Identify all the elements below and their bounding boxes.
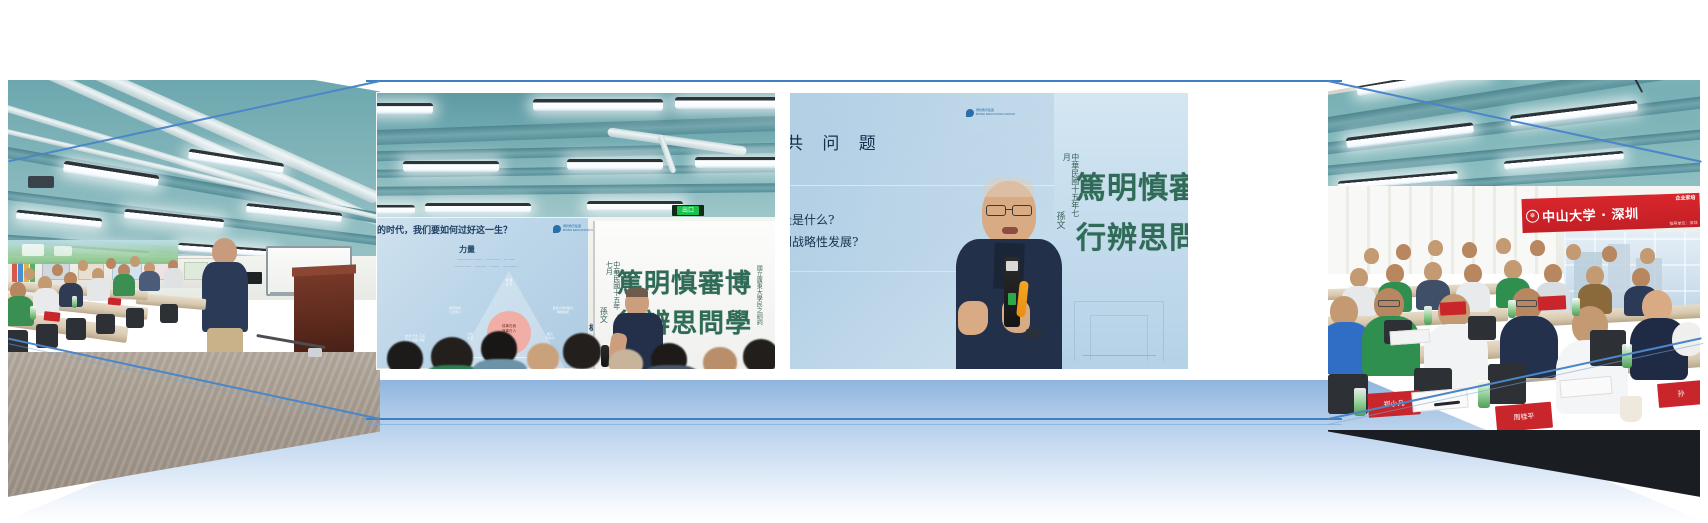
frame-line-top-center xyxy=(366,80,1342,82)
photo-center-left[interactable]: 出口 博智教育集团 BOZHI EDUCATION GROUP 的时代，我们要如… xyxy=(377,93,775,369)
water-bottle xyxy=(1424,306,1432,325)
ceiling-mask-center xyxy=(366,0,1342,80)
wall-calligraphy-side-left: 孫文 xyxy=(599,307,607,339)
photo-center-left-image: 出口 博智教育集团 BOZHI EDUCATION GROUP 的时代，我们要如… xyxy=(377,93,775,369)
slide-logo-line2: BOZHI EDUCATION GROUP xyxy=(976,113,1015,117)
frame-line-bottom-center xyxy=(366,418,1342,420)
nameplate: 孙 xyxy=(1657,380,1700,408)
nameplate: 周桂平 xyxy=(1495,402,1553,433)
glasses-icon xyxy=(986,205,1006,216)
wall-calligraphy-side-right: 中華民國十五年七月 xyxy=(605,261,620,311)
wall-calligraphy-side-right: 中華民國十五年七月 xyxy=(1062,153,1079,217)
wall-calligraphy-side-left: 孫文 xyxy=(1054,211,1063,245)
slide-line1: 量是什么? xyxy=(790,211,834,228)
wall-calligraphy-side-far: 國立廣東大學民之訓詞 xyxy=(755,265,761,333)
slide-line2: 到战略性发展? xyxy=(790,233,858,250)
slide-title: 共 问 题 xyxy=(790,129,883,154)
person-body xyxy=(202,262,248,332)
brand-logo-icon xyxy=(966,109,974,117)
event-banner: ✵ 中山大学 · 深圳 企业家培 指导单位：深圳 xyxy=(1521,193,1700,233)
banner-sub-text: 指导单位：深圳 xyxy=(1669,220,1697,227)
nameplate-text: 孙 xyxy=(1677,389,1685,400)
glasses-icon xyxy=(1516,300,1537,307)
banner-main-text: 中山大学 · 深圳 xyxy=(1542,203,1639,225)
water-bottle xyxy=(1572,298,1580,316)
photo-center-right-image: 博智教育集团 BOZHI EDUCATION GROUP 共 问 题 量是什么?… xyxy=(790,93,1188,369)
perspective-gallery: 出口 博智教育集团 BOZHI EDUCATION GROUP 的时代，我们要如… xyxy=(0,0,1708,523)
exit-sign: 出口 xyxy=(677,206,699,215)
slide-section-top: 力量 xyxy=(459,245,475,255)
nameplate-text: 周桂平 xyxy=(1513,411,1535,423)
wall-calligraphy-line2: 行辨思問學 xyxy=(1076,213,1188,257)
wall-calligraphy-line1: 篤明慎審博 xyxy=(1076,163,1188,207)
slide-title: 的时代，我们要如何过好这一生？ xyxy=(377,223,512,236)
brand-logo-icon xyxy=(553,225,561,233)
glasses-icon xyxy=(1378,300,1400,307)
person-head xyxy=(212,238,237,265)
photo-center-right[interactable]: 博智教育集团 BOZHI EDUCATION GROUP 共 问 题 量是什么?… xyxy=(790,93,1188,369)
water-bottle xyxy=(1508,300,1516,318)
banner-top-text: 企业家培 xyxy=(1675,194,1695,202)
university-seal-icon: ✵ xyxy=(1526,209,1539,222)
frame-line-bottom-center-secondary xyxy=(366,424,1342,425)
